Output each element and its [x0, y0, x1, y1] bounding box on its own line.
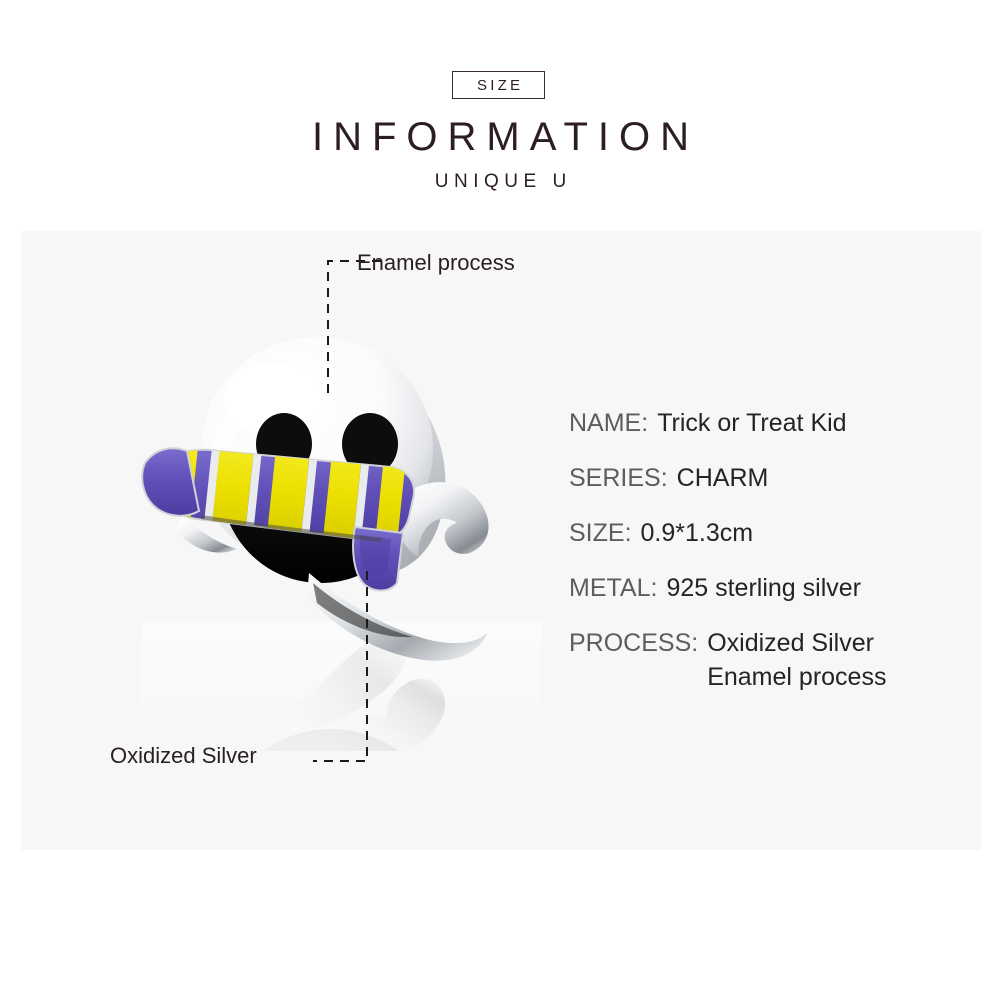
spec-value-process-line1: Oxidized Silver [707, 626, 969, 660]
spec-label-name: NAME: [569, 409, 648, 438]
spec-value-metal: 925 sterling silver [666, 571, 969, 605]
page-title: INFORMATION [0, 113, 1001, 161]
spec-row-series: SERIES: CHARM [569, 461, 969, 495]
callout-label-enamel: Enamel process [357, 250, 515, 276]
size-badge-label: SIZE [474, 77, 523, 94]
spec-value-name: Trick or Treat Kid [657, 406, 969, 440]
spec-row-metal: METAL: 925 sterling silver [569, 571, 969, 605]
spec-value-series: CHARM [677, 461, 969, 495]
callout-label-oxidized: Oxidized Silver [110, 743, 257, 769]
spec-value-group-size: 0.9*1.3cm [641, 516, 969, 550]
content-panel: Enamel process Oxidized Silver NAME: Tri… [21, 231, 981, 850]
spec-row-size: SIZE: 0.9*1.3cm [569, 516, 969, 550]
spec-value-group-process: Oxidized Silver Enamel process [707, 626, 969, 694]
spec-value-group-name: Trick or Treat Kid [657, 406, 969, 440]
product-spec-list: NAME: Trick or Treat Kid SERIES: CHARM S… [569, 406, 969, 694]
spec-label-size: SIZE: [569, 519, 632, 548]
oxidized-leader-line [171, 571, 411, 771]
spec-label-series: SERIES: [569, 464, 668, 493]
page-subtitle: UNIQUE U [0, 170, 1001, 194]
spec-value-group-series: CHARM [677, 461, 969, 495]
size-badge: SIZE [452, 71, 545, 99]
spec-value-group-metal: 925 sterling silver [666, 571, 969, 605]
spec-label-process: PROCESS: [569, 629, 698, 658]
spec-row-name: NAME: Trick or Treat Kid [569, 406, 969, 440]
spec-value-size: 0.9*1.3cm [641, 516, 969, 550]
spec-row-process: PROCESS: Oxidized Silver Enamel process [569, 626, 969, 694]
spec-value-process-line2: Enamel process [707, 660, 969, 694]
spec-label-metal: METAL: [569, 574, 657, 603]
page-header: SIZE INFORMATION UNIQUE U [0, 0, 1001, 231]
